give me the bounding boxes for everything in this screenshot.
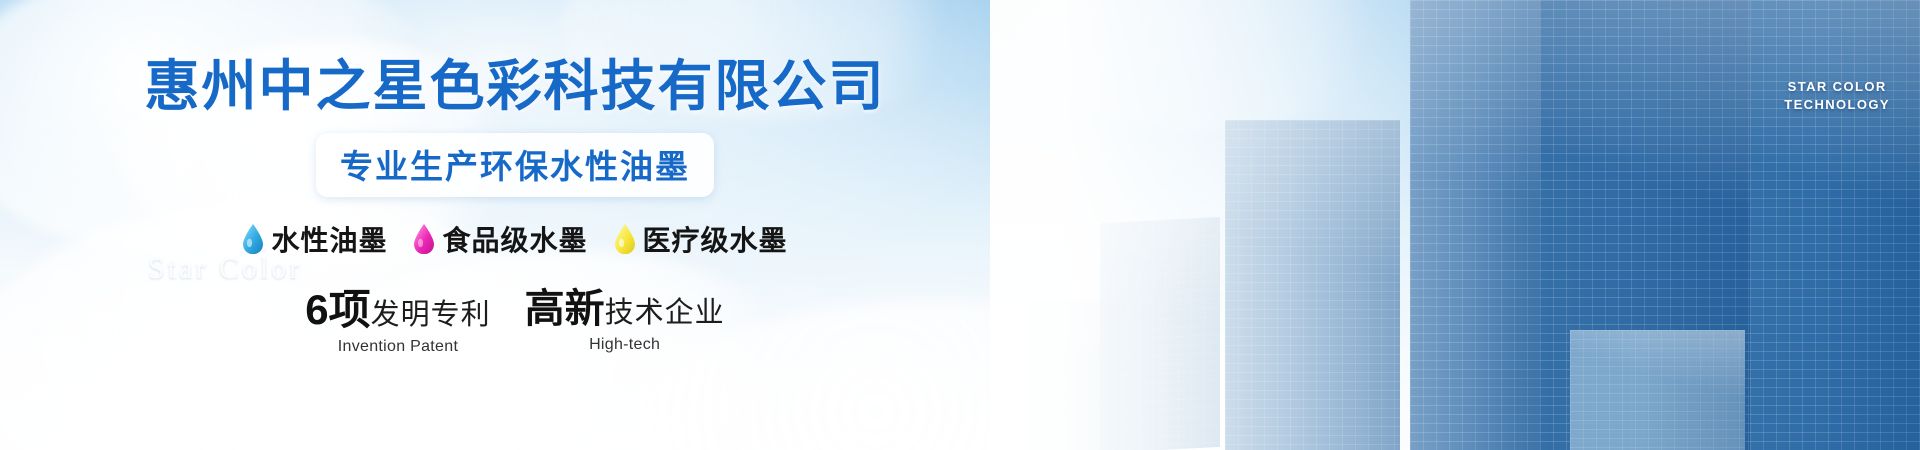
certification-chinese: 6项发明专利 [305, 289, 490, 331]
certification-emphasis: 高新 [525, 287, 605, 331]
subtitle-text: 专业生产环保水性油墨 [340, 148, 690, 185]
certification-chinese: 高新技术企业 [525, 289, 725, 329]
banner-content: 惠州中之星色彩科技有限公司 专业生产环保水性油墨 水性油墨 [0, 0, 1030, 450]
tower-brand-line-2: TECHNOLOGY [1784, 96, 1890, 114]
building [1410, 0, 1560, 450]
building [1570, 330, 1745, 450]
feature-label: 医疗级水墨 [643, 219, 788, 259]
certification-item: 高新技术企业 High-tech [525, 289, 725, 354]
certification-list: 6项发明专利 Invention Patent 高新技术企业 High-tech [305, 289, 724, 356]
certification-text: 技术企业 [605, 297, 725, 329]
certification-text: 发明专利 [371, 299, 491, 331]
subtitle-badge: 专业生产环保水性油墨 [316, 133, 714, 197]
water-drop-icon [413, 224, 435, 254]
certification-english: Invention Patent [305, 338, 490, 356]
water-drop-icon [614, 224, 636, 254]
feature-item: 水性油墨 [242, 219, 387, 259]
feature-item: 食品级水墨 [413, 219, 587, 259]
tower-brand-overlay: STAR COLOR TECHNOLOGY [1784, 78, 1890, 113]
building [1225, 120, 1400, 450]
water-drop-icon [242, 224, 264, 254]
certification-item: 6项发明专利 Invention Patent [305, 289, 490, 356]
feature-label: 食品级水墨 [442, 219, 587, 259]
tower-brand-line-1: STAR COLOR [1784, 78, 1890, 96]
feature-label: 水性油墨 [271, 219, 387, 259]
feature-list: 水性油墨 食品级水墨 [242, 219, 787, 259]
feature-item: 医疗级水墨 [614, 219, 788, 259]
certification-number: 6项 [305, 286, 370, 333]
building [1100, 217, 1220, 450]
certification-english: High-tech [525, 336, 725, 354]
building [1750, 0, 1920, 450]
city-skyline-photo [990, 0, 1920, 450]
company-title: 惠州中之星色彩科技有限公司 [144, 56, 885, 117]
company-hero-banner: Star Color STAR COLOR TECHNOLOGY 惠州中之星色彩… [0, 0, 1920, 450]
